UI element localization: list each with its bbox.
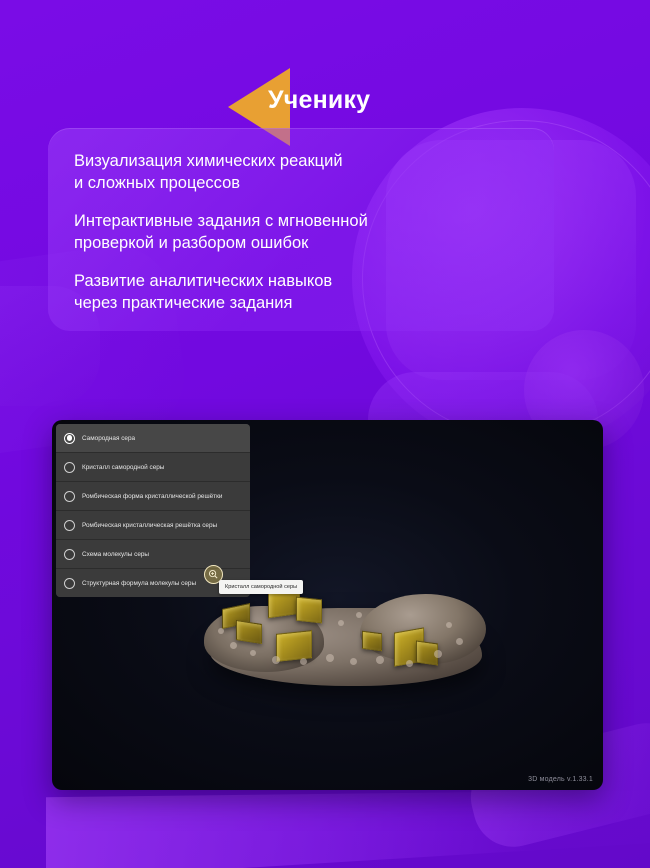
rock-grain bbox=[456, 638, 463, 645]
sulfur-crystal bbox=[236, 620, 262, 644]
sulfur-crystal bbox=[276, 630, 312, 662]
radio-icon[interactable] bbox=[64, 491, 75, 502]
rock-grain bbox=[300, 658, 307, 665]
model-list-item[interactable]: Кристалл самородной серы bbox=[56, 453, 250, 482]
mineral-specimen bbox=[210, 584, 482, 692]
rock-grain bbox=[434, 650, 442, 658]
feature-item: Интерактивные задания с мгновенной прове… bbox=[74, 210, 528, 254]
rock-grain bbox=[350, 658, 357, 665]
radio-icon[interactable] bbox=[64, 578, 75, 589]
rock-grain bbox=[230, 642, 237, 649]
model-list-item-label: Схема молекулы серы bbox=[82, 550, 149, 559]
radio-icon[interactable] bbox=[64, 520, 75, 531]
model-list-item-label: Самородная сера bbox=[82, 434, 135, 443]
rock-grain bbox=[326, 654, 334, 662]
hotspot-tooltip: Кристалл самородной серы bbox=[219, 580, 303, 594]
rock-grain bbox=[250, 650, 256, 656]
radio-icon[interactable] bbox=[64, 549, 75, 560]
radio-icon[interactable] bbox=[64, 433, 75, 444]
model-list-item[interactable]: Ромбическая форма кристаллической решётк… bbox=[56, 482, 250, 511]
sulfur-crystal bbox=[362, 631, 382, 651]
feature-item: Развитие аналитических навыков через пра… bbox=[74, 270, 528, 314]
model-list-item-label: Структурная формула молекулы серы bbox=[82, 579, 196, 588]
model-list-item[interactable]: Схема молекулы серы bbox=[56, 540, 250, 569]
rock-grain bbox=[376, 656, 384, 664]
radio-icon[interactable] bbox=[64, 462, 75, 473]
rock-grain bbox=[446, 622, 452, 628]
rock-grain bbox=[338, 620, 344, 626]
feature-item: Визуализация химических реакций и сложны… bbox=[74, 150, 528, 194]
model-list-item-label: Ромбическая кристаллическая решётка серы bbox=[82, 521, 217, 530]
rock-grain bbox=[218, 628, 224, 634]
page-title: Ученику bbox=[268, 86, 370, 115]
model-list-item[interactable]: Самородная сера bbox=[56, 424, 250, 453]
rock-grain bbox=[356, 612, 362, 618]
rock-grain bbox=[406, 660, 413, 667]
model-list-item-label: Кристалл самородной серы bbox=[82, 463, 164, 472]
model-list-item[interactable]: Ромбическая кристаллическая решётка серы bbox=[56, 511, 250, 540]
model-list-item-label: Ромбическая форма кристаллической решётк… bbox=[82, 492, 222, 501]
version-label: 3D модель v.1.33.1 bbox=[528, 776, 593, 783]
model-viewer[interactable]: Кристалл самородной серы Самородная сера… bbox=[52, 420, 603, 790]
decor-sweep-bottom bbox=[46, 790, 650, 868]
rock-grain bbox=[272, 656, 280, 664]
header: Ученику bbox=[0, 34, 650, 110]
sulfur-crystal bbox=[296, 597, 322, 624]
feature-card: Визуализация химических реакций и сложны… bbox=[48, 128, 554, 331]
